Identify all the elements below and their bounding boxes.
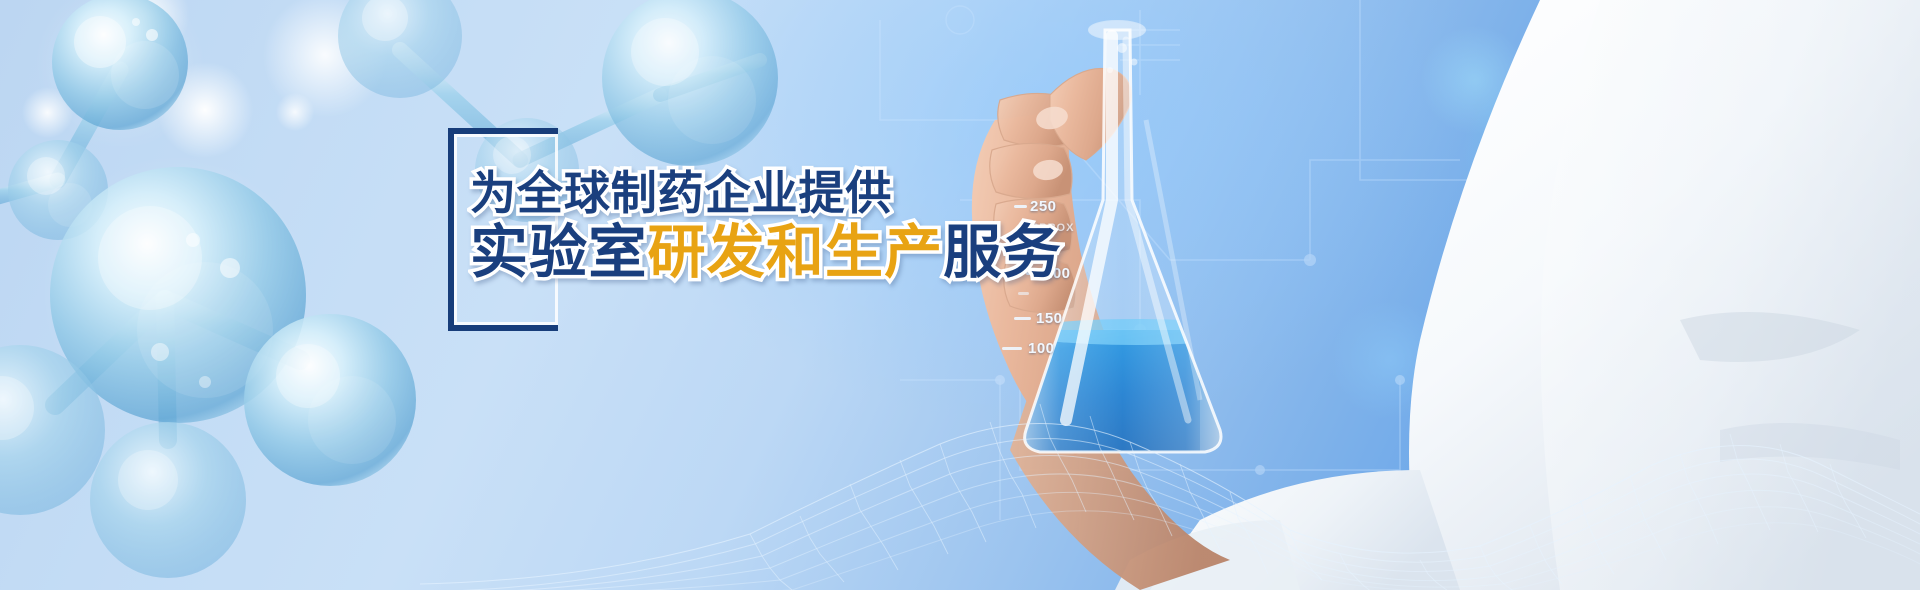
headline-lines: 为全球制药企业提供 实验室研发和生产服务 bbox=[470, 170, 970, 282]
wireframe-wave-mesh bbox=[420, 334, 1920, 590]
flask-graduation-150: 150 bbox=[1036, 310, 1063, 327]
light-bloom bbox=[275, 92, 315, 132]
headline-line-2-prefix: 实验室 bbox=[470, 220, 647, 285]
flask-graduation-250: 250 bbox=[1030, 198, 1057, 215]
flask-tick-mark bbox=[1014, 317, 1031, 320]
flask-tick-mark bbox=[1002, 347, 1022, 350]
light-bloom bbox=[100, 0, 190, 60]
flask-graduation-100: 100 bbox=[1028, 340, 1055, 357]
lab-photo-composition bbox=[900, 0, 1920, 590]
headline-line-2: 实验室研发和生产服务 bbox=[470, 224, 970, 282]
light-bloom bbox=[1420, 25, 1530, 135]
headline-line-2-highlight: 研发和生产 bbox=[647, 220, 943, 285]
headline-line-1-text: 为全球制药企业提供 bbox=[470, 167, 892, 219]
headline-line-1: 为全球制药企业提供 bbox=[470, 170, 970, 216]
light-bloom bbox=[1330, 300, 1450, 420]
light-bloom bbox=[20, 85, 75, 140]
headline-block: 为全球制药企业提供 实验室研发和生产服务 bbox=[448, 128, 968, 343]
light-bloom bbox=[1460, 60, 1660, 260]
flask-tick-mark-minor bbox=[1018, 292, 1029, 295]
headline-line-2-suffix: 服务 bbox=[943, 220, 1061, 285]
light-bloom bbox=[150, 55, 260, 165]
light-bloom bbox=[260, 0, 390, 120]
hero-banner: 250 APPROX 200 150 100 bbox=[0, 0, 1920, 590]
flask-tick-mark bbox=[1014, 205, 1027, 208]
